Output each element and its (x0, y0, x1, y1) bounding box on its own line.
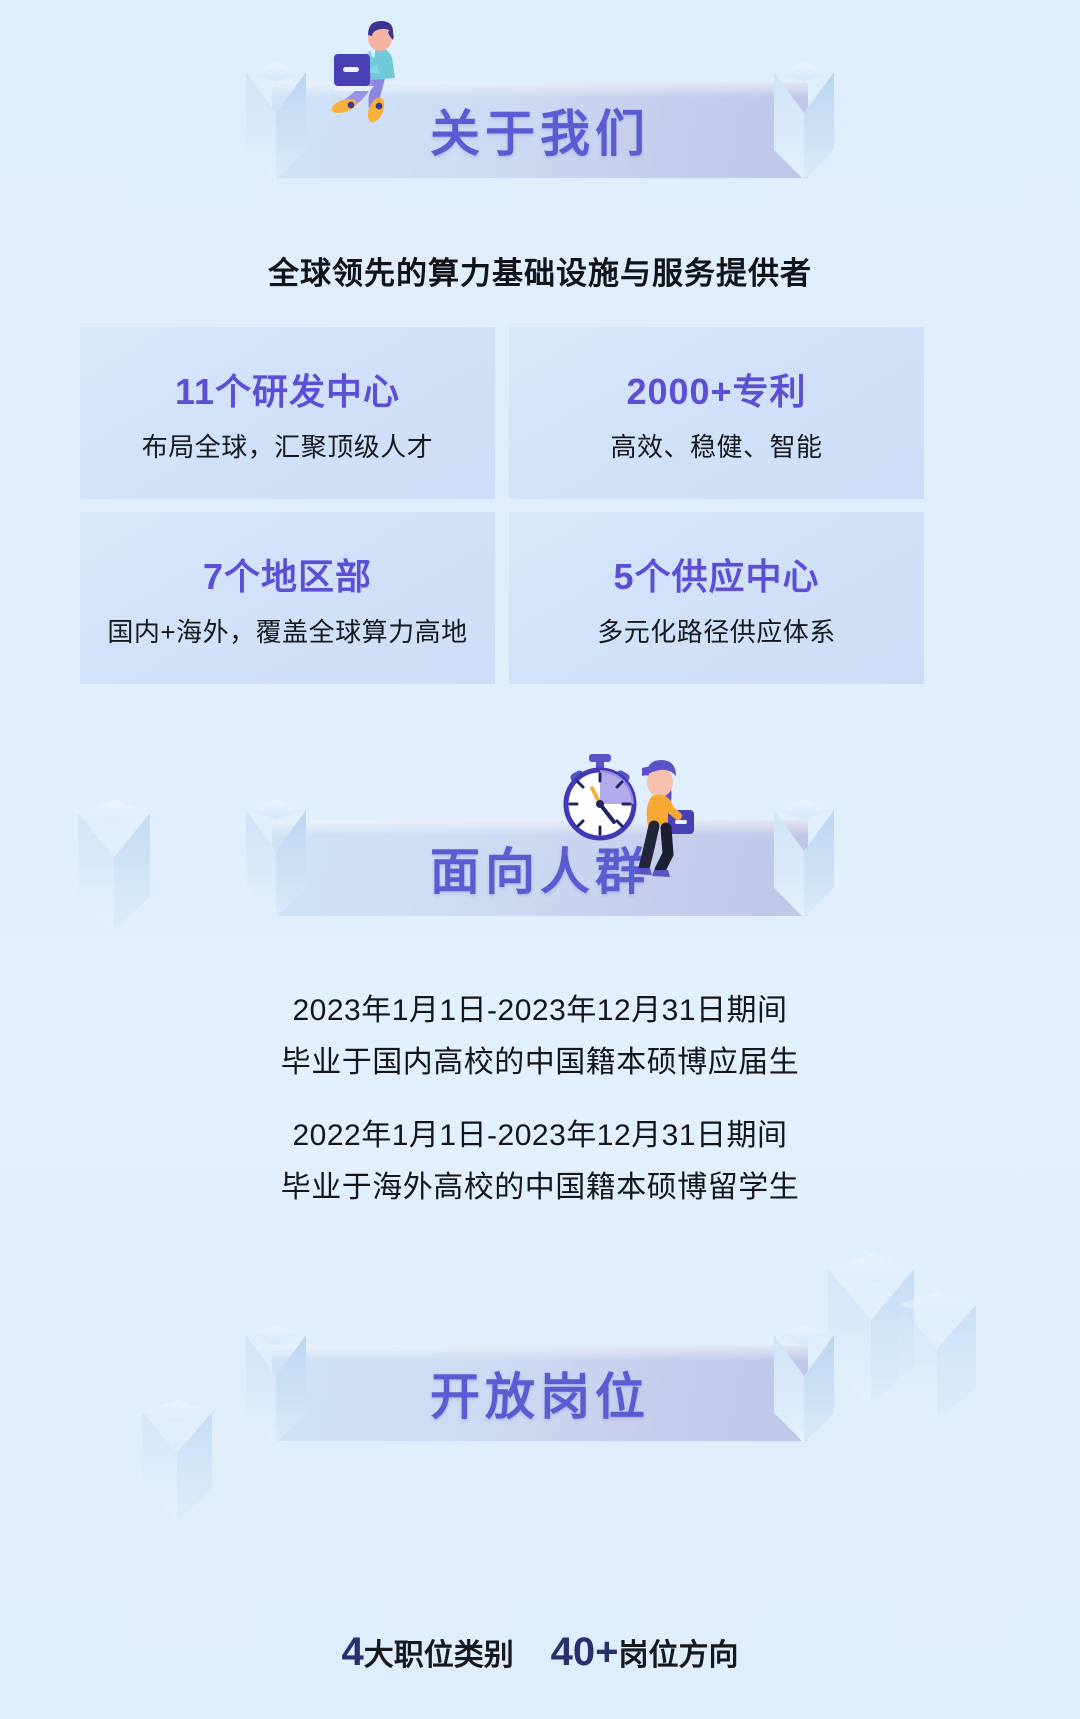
stat-card-regional-units[interactable]: 7个地区部 国内+海外，覆盖全球算力高地 (80, 512, 495, 684)
stat-cards-row: 11个研发中心 布局全球，汇聚顶级人才 2000+专利 高效、稳健、智能 (80, 327, 1000, 499)
stat-cards-grid: 11个研发中心 布局全球，汇聚顶级人才 2000+专利 高效、稳健、智能 7个地… (80, 327, 1000, 697)
position-direction-label: 岗位方向 (619, 1639, 739, 1672)
stat-card-headline: 2000+专利 (626, 363, 806, 415)
stat-cards-row: 7个地区部 国内+海外，覆盖全球算力高地 5个供应中心 多元化路径供应体系 (80, 512, 1000, 684)
stat-card-caption: 高效、稳健、智能 (610, 427, 822, 464)
audience-line: 2023年1月1日-2023年12月31日期间 (0, 985, 1080, 1037)
decorative-cube (898, 1292, 976, 1420)
position-category-label: 大职位类别 (364, 1639, 514, 1672)
audience-paragraph-overseas: 2022年1月1日-2023年12月31日期间 毕业于海外高校的中国籍本硕博留学… (0, 1110, 1080, 1214)
section-title-open-positions: 开放岗位 (272, 1357, 808, 1429)
stat-card-headline: 5个供应中心 (613, 548, 819, 600)
stat-card-caption: 多元化路径供应体系 (597, 612, 836, 649)
audience-line: 毕业于国内高校的中国籍本硕博应届生 (0, 1037, 1080, 1089)
open-positions-stats: 4大职位类别 40+岗位方向 (0, 1630, 1080, 1675)
stat-card-headline: 11个研发中心 (175, 363, 400, 415)
decorative-cube (142, 1400, 212, 1520)
person-with-laptop-illustration (318, 18, 438, 128)
position-direction-count: 40+ (551, 1630, 619, 1674)
stat-card-supply-centers[interactable]: 5个供应中心 多元化路径供应体系 (509, 512, 924, 684)
section-banner-open-positions: 开放岗位 (272, 1345, 808, 1441)
stat-card-caption: 布局全球，汇聚顶级人才 (142, 427, 434, 464)
stat-card-headline: 7个地区部 (203, 548, 372, 600)
poster-page: 关于我们 全球领先的算力基础设施与服务提供者 11个研发中心 布局全球，汇聚顶级… (0, 0, 1080, 1719)
audience-line: 毕业于海外高校的中国籍本硕博留学生 (0, 1162, 1080, 1214)
audience-line: 2022年1月1日-2023年12月31日期间 (0, 1110, 1080, 1162)
audience-paragraph-domestic: 2023年1月1日-2023年12月31日期间 毕业于国内高校的中国籍本硕博应届… (0, 985, 1080, 1089)
stat-card-patents[interactable]: 2000+专利 高效、稳健、智能 (509, 327, 924, 499)
decorative-cube (78, 800, 150, 930)
stat-card-caption: 国内+海外，覆盖全球算力高地 (107, 612, 467, 649)
stat-card-rd-centers[interactable]: 11个研发中心 布局全球，汇聚顶级人才 (80, 327, 495, 499)
woman-with-stopwatch-illustration (556, 742, 696, 882)
section-banner-target-audience: 面向人群 (272, 820, 808, 916)
position-category-count: 4 (341, 1630, 363, 1674)
about-subtitle: 全球领先的算力基础设施与服务提供者 (0, 248, 1080, 293)
section-title-target-audience: 面向人群 (272, 832, 808, 904)
